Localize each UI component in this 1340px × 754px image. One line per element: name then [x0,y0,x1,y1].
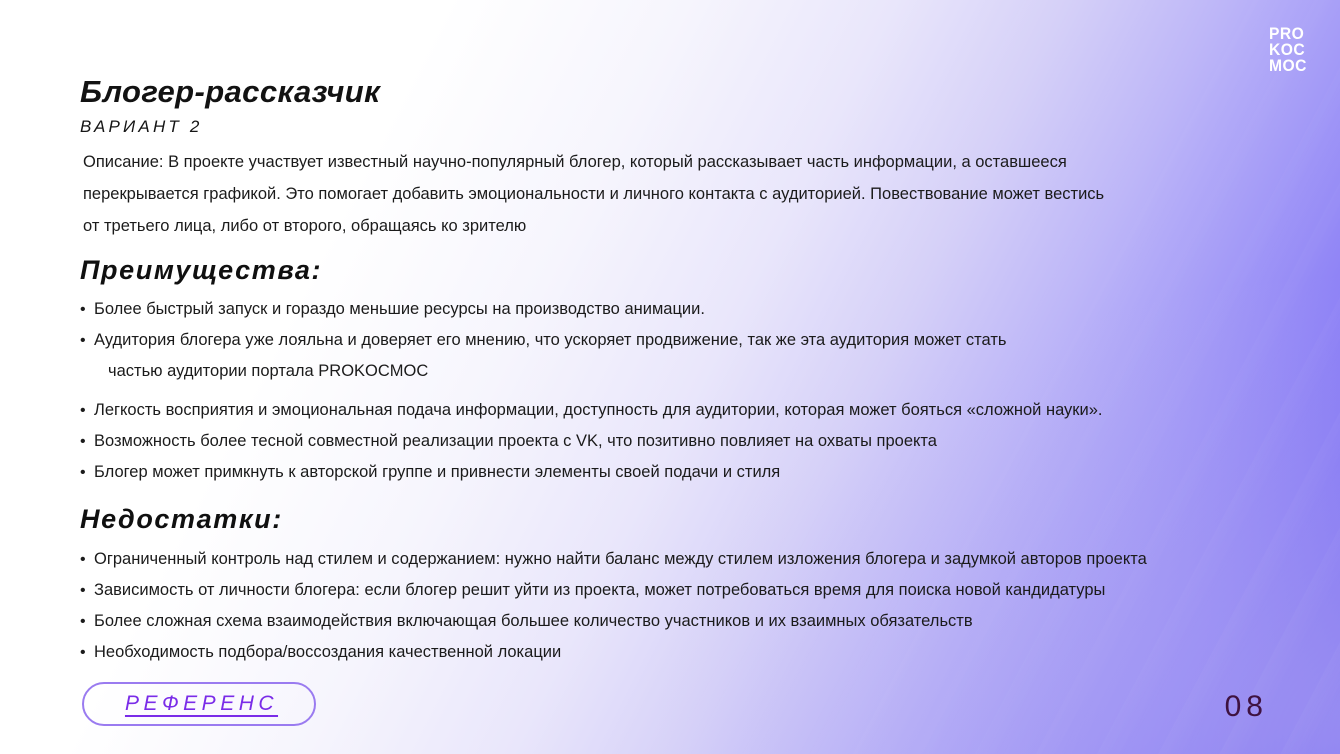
description-block: Описание: В проекте участвует известный … [83,146,1104,242]
list-item: Зависимость от личности блогера: если бл… [80,575,1147,606]
advantages-heading: Преимущества: [80,255,322,286]
list-item: Необходимость подбора/воссоздания качест… [80,637,1147,668]
slide-canvas: PRO KOC MOC Блогер-рассказчик ВАРИАНТ 2 … [0,0,1340,754]
drawbacks-list: Ограниченный контроль над стилем и содер… [80,544,1147,668]
page-subtitle: ВАРИАНТ 2 [80,117,203,137]
description-line: от третьего лица, либо от второго, обращ… [83,210,1104,242]
list-item: Блогер может примкнуть к авторской групп… [80,457,1103,488]
list-item: Аудитория блогера уже лояльна и доверяет… [80,325,1103,356]
list-item: Ограниченный контроль над стилем и содер… [80,544,1147,575]
description-line: перекрывается графикой. Это помогает доб… [83,178,1104,210]
reference-button[interactable]: РЕФЕРЕНС [82,682,316,726]
advantages-list: Более быстрый запуск и гораздо меньшие р… [80,294,1103,488]
page-number: 08 [1225,690,1268,724]
reference-button-label: РЕФЕРЕНС [120,692,278,716]
logo-line-3: MOC [1269,58,1307,74]
list-item-continuation: частью аудитории портала PROKOCMOC [80,356,1103,387]
list-item: Более сложная схема взаимодействия включ… [80,606,1147,637]
list-item: Легкость восприятия и эмоциональная пода… [80,395,1103,426]
description-line: Описание: В проекте участвует известный … [83,146,1104,178]
prokosmos-logo: PRO KOC MOC [1269,26,1310,74]
list-item: Возможность более тесной совместной реал… [80,426,1103,457]
list-item: Более быстрый запуск и гораздо меньшие р… [80,294,1103,325]
page-title: Блогер-рассказчик [80,74,380,110]
slide-content: PRO KOC MOC Блогер-рассказчик ВАРИАНТ 2 … [0,0,1340,754]
drawbacks-heading: Недостатки: [80,504,283,535]
